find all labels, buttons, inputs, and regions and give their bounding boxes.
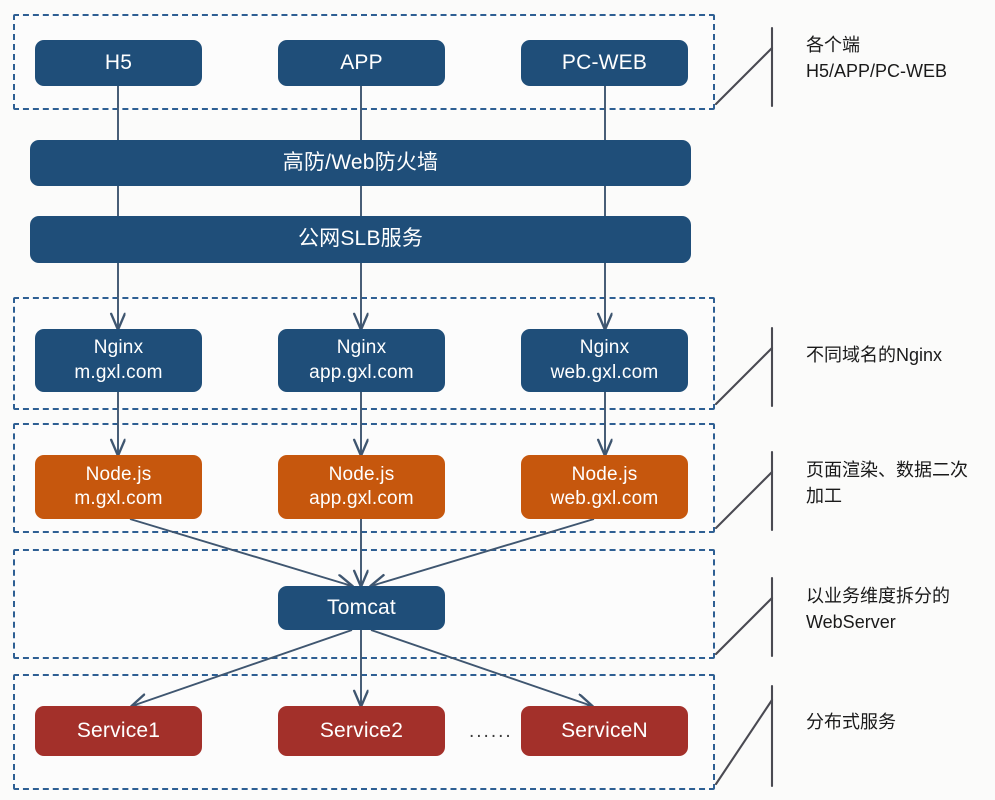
architecture-diagram: H5 APP PC-WEB 高防/Web防火墙 公网SLB服务 Nginx m.…	[0, 0, 995, 800]
node-label-primary: Node.js	[86, 463, 152, 487]
node-service2[interactable]: Service2	[278, 706, 445, 756]
annotation-services: 分布式服务	[806, 709, 991, 735]
annotation-nginx: 不同域名的Nginx	[806, 342, 991, 368]
bar-label: 高防/Web防火墙	[283, 150, 438, 177]
node-nginx-web[interactable]: Nginx web.gxl.com	[521, 329, 688, 392]
node-label-primary: Nginx	[94, 336, 144, 360]
annotation-clients: 各个端 H5/APP/PC-WEB	[806, 32, 991, 84]
node-nodejs-web[interactable]: Node.js web.gxl.com	[521, 455, 688, 519]
node-label-primary: Nginx	[580, 336, 630, 360]
node-label-primary: Node.js	[572, 463, 638, 487]
node-label-primary: APP	[340, 50, 383, 77]
node-label-primary: Node.js	[329, 463, 395, 487]
node-label-secondary: m.gxl.com	[74, 361, 162, 385]
node-nodejs-app[interactable]: Node.js app.gxl.com	[278, 455, 445, 519]
node-label-secondary: app.gxl.com	[309, 487, 414, 511]
node-h5[interactable]: H5	[35, 40, 202, 86]
node-label-primary: Tomcat	[327, 595, 396, 622]
node-nodejs-m[interactable]: Node.js m.gxl.com	[35, 455, 202, 519]
node-label-secondary: m.gxl.com	[74, 487, 162, 511]
node-serviceN[interactable]: ServiceN	[521, 706, 688, 756]
node-label-primary: Service1	[77, 718, 160, 745]
node-label-primary: Service2	[320, 718, 403, 745]
node-label-primary: ServiceN	[561, 718, 648, 745]
node-nginx-m[interactable]: Nginx m.gxl.com	[35, 329, 202, 392]
node-label-secondary: web.gxl.com	[551, 487, 659, 511]
annotation-tomcat: 以业务维度拆分的 WebServer	[806, 583, 991, 635]
node-tomcat[interactable]: Tomcat	[278, 586, 445, 630]
services-ellipsis: ......	[469, 721, 513, 743]
node-nginx-app[interactable]: Nginx app.gxl.com	[278, 329, 445, 392]
bar-slb[interactable]: 公网SLB服务	[30, 216, 691, 263]
node-label-secondary: web.gxl.com	[551, 361, 659, 385]
bar-label: 公网SLB服务	[298, 226, 423, 253]
node-label-primary: PC-WEB	[562, 50, 647, 77]
node-app[interactable]: APP	[278, 40, 445, 86]
bar-firewall[interactable]: 高防/Web防火墙	[30, 140, 691, 186]
node-label-primary: H5	[105, 50, 132, 77]
node-label-secondary: app.gxl.com	[309, 361, 414, 385]
node-label-primary: Nginx	[337, 336, 387, 360]
annotation-nodejs: 页面渲染、数据二次 加工	[806, 457, 991, 509]
node-service1[interactable]: Service1	[35, 706, 202, 756]
node-pc-web[interactable]: PC-WEB	[521, 40, 688, 86]
